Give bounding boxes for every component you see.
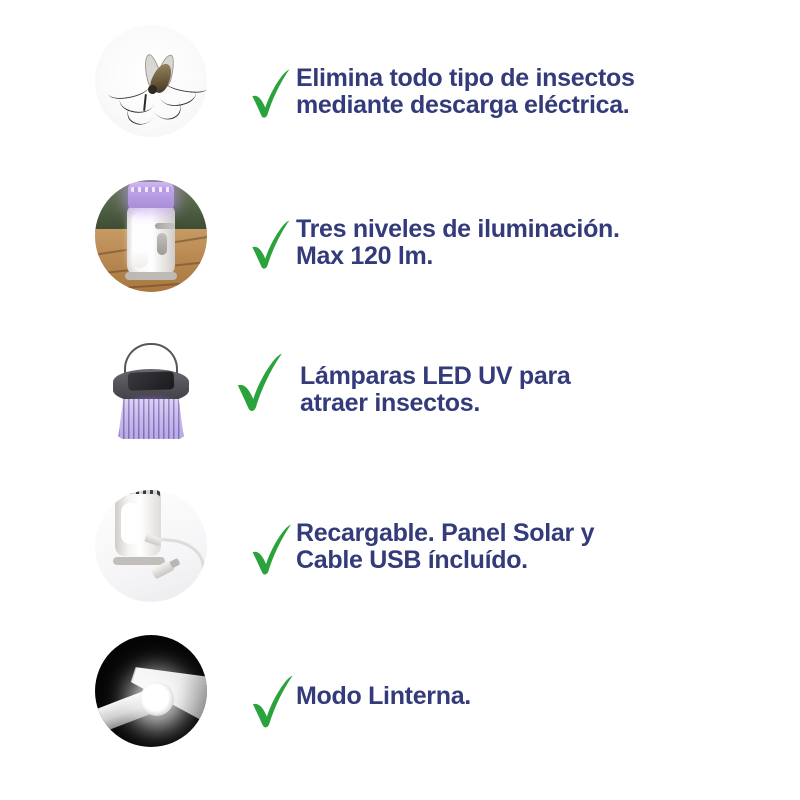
feature-item-rechargeable: Recargable. Panel Solar y Cable USB íncl… — [0, 470, 800, 625]
uv-cage-skirt — [118, 399, 184, 439]
feature-label: Lámparas LED UV para atraer insectos. — [300, 363, 571, 417]
green-check-icon — [250, 675, 296, 731]
feature-label: Modo Linterna. — [296, 683, 471, 710]
green-check-icon — [250, 220, 292, 272]
lantern-light-window — [121, 503, 139, 544]
solar-lamp-illustration — [95, 335, 207, 447]
feature-label: Recargable. Panel Solar y Cable USB íncl… — [296, 520, 594, 574]
feature-item-insect-kill: Elimina todo tipo de insectos mediante d… — [0, 5, 800, 160]
flashlight-illustration — [95, 635, 207, 747]
feature-label: Tres niveles de iluminación. Max 120 lm. — [296, 216, 620, 270]
lantern-light-window — [132, 212, 148, 268]
solar-panel-icon — [128, 371, 175, 391]
mosquito-photo — [95, 25, 207, 137]
feature-item-flashlight-mode: Modo Linterna. — [0, 620, 800, 775]
lantern-brand-logo — [155, 223, 175, 229]
solar-lamp-photo — [95, 335, 207, 447]
product-feature-list: Elimina todo tipo de insectos mediante d… — [0, 0, 800, 800]
uv-grid-top-icon — [128, 182, 174, 208]
green-check-icon — [232, 353, 288, 415]
feature-item-three-light-levels: Tres niveles de iluminación. Max 120 lm. — [0, 160, 800, 315]
flashlight-lens — [144, 687, 168, 711]
lantern-power-button — [157, 233, 167, 255]
mosquito-illustration — [95, 25, 207, 137]
lantern-body-icon — [127, 205, 175, 277]
green-check-icon — [250, 524, 294, 578]
lantern-deck-illustration — [95, 180, 207, 292]
lantern-base — [125, 272, 177, 280]
usb-charging-illustration — [95, 490, 207, 602]
usb-charging-photo — [95, 490, 207, 602]
feature-item-uv-led-lamps: Lámparas LED UV para atraer insectos. — [0, 315, 800, 470]
green-check-icon — [250, 69, 292, 121]
feature-label: Elimina todo tipo de insectos mediante d… — [296, 65, 635, 119]
lantern-on-deck-photo — [95, 180, 207, 292]
flashlight-beam-photo — [95, 635, 207, 747]
